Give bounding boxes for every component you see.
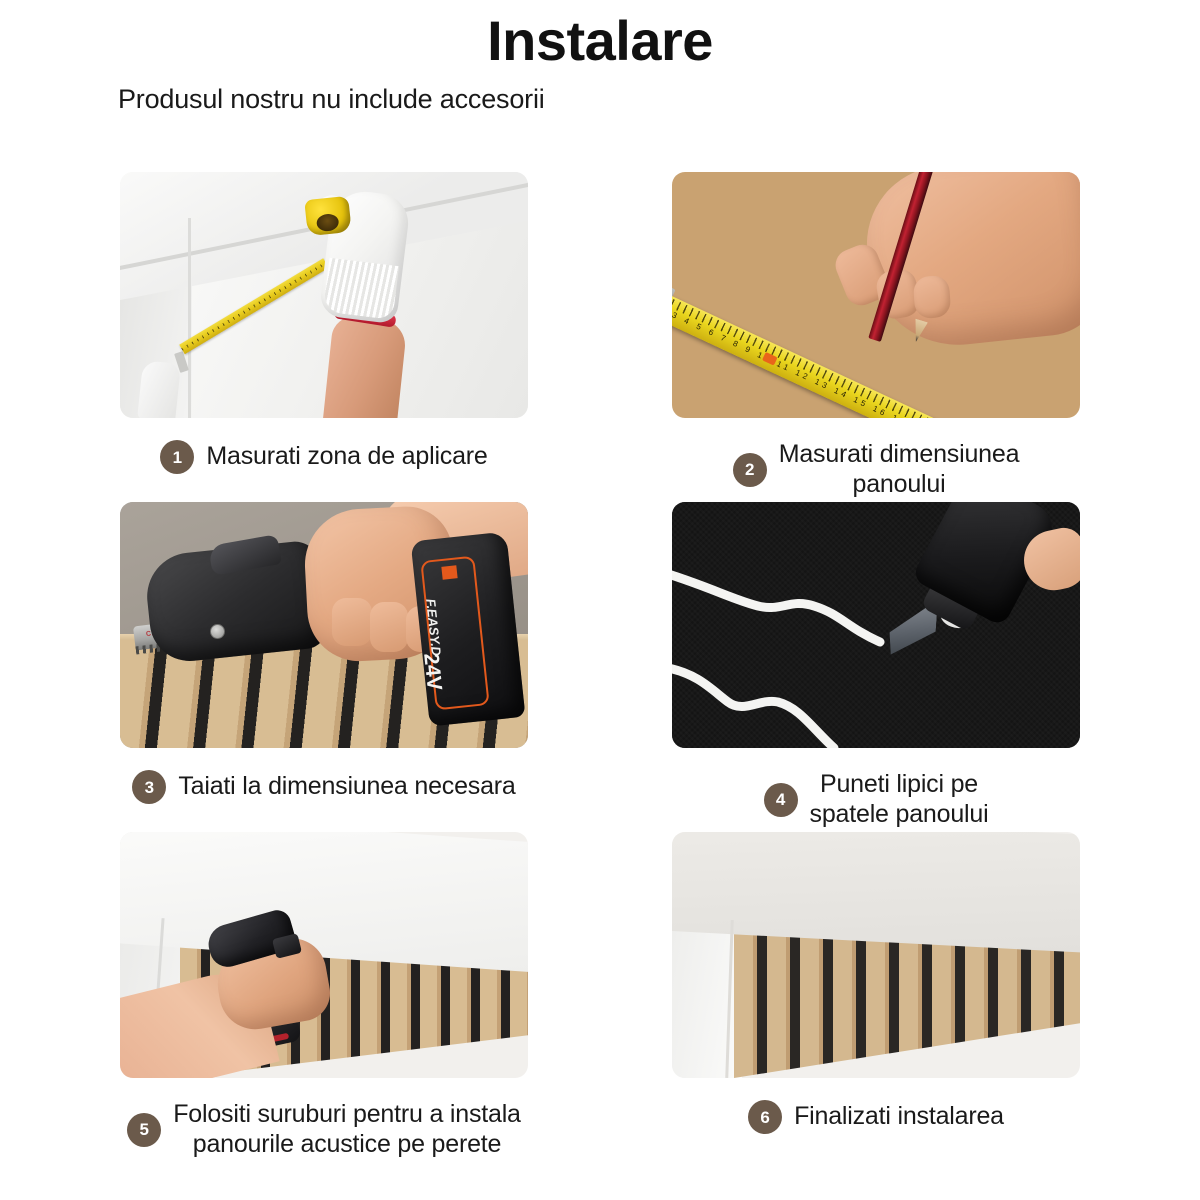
step-badge-2: 2 — [733, 453, 767, 487]
step-caption-text-3: Taiati la dimensiunea necesara — [178, 772, 515, 802]
installation-guide-page: Instalare Produsul nostru nu include acc… — [0, 0, 1200, 1200]
step-caption-text-4: Puneti lipici pe spatele panoului — [810, 770, 989, 829]
finger — [913, 275, 952, 319]
battery-indicator-square — [441, 565, 457, 579]
step-photo-5 — [120, 832, 528, 1078]
step-badge-5: 5 — [127, 1113, 161, 1147]
step-caption-6: 6 Finalizati instalarea — [672, 1078, 1080, 1134]
steps-row-2: CHAINSAW F.EASY.D 24V — [120, 502, 1080, 832]
step-card-1: 1 Masurati zona de aplicare — [120, 172, 528, 474]
step-caption-text-1: Masurati zona de aplicare — [206, 442, 487, 472]
step-caption-1: 1 Masurati zona de aplicare — [120, 418, 528, 474]
page-subtitle: Produsul nostru nu include accesorii — [118, 84, 545, 115]
battery-voltage-text: 24V — [418, 652, 446, 692]
white-cloth — [137, 360, 181, 418]
step-card-6: 6 Finalizati instalarea — [672, 832, 1080, 1134]
step-badge-4: 4 — [764, 783, 798, 817]
step-card-2: 2 3 4 5 6 7 8 9 10 11 12 13 14 15 16 17 … — [672, 172, 1080, 499]
step-photo-6 — [672, 832, 1080, 1078]
page-title: Instalare — [0, 8, 1200, 73]
step-caption-text-5: Folositi suruburi pentru a instala panou… — [173, 1100, 521, 1159]
step-card-4: 4 Puneti lipici pe spatele panoului — [672, 502, 1080, 829]
step-caption-4: 4 Puneti lipici pe spatele panoului — [672, 748, 1080, 829]
wall-corner-line — [188, 218, 191, 418]
knuckle — [332, 598, 372, 646]
caption-line-1: Finalizati instalarea — [794, 1102, 1004, 1130]
caption-line-1: Taiati la dimensiunea necesara — [178, 772, 515, 800]
step-caption-2: 2 Masurati dimensiunea panoului — [672, 418, 1080, 499]
caption-line-2: spatele panoului — [810, 800, 989, 830]
caption-line-2: panoului — [779, 470, 1020, 500]
caption-line-1: Puneti lipici pe — [820, 770, 978, 798]
step-caption-text-2: Masurati dimensiunea panoului — [779, 440, 1020, 499]
caption-line-1: Masurati dimensiunea — [779, 440, 1020, 468]
step-photo-2: 2 3 4 5 6 7 8 9 10 11 12 13 14 15 16 17 … — [672, 172, 1080, 418]
caption-line-1: Folositi suruburi pentru a instala — [173, 1100, 521, 1128]
step-badge-1: 1 — [160, 440, 194, 474]
forearm — [322, 314, 407, 418]
step-card-3: CHAINSAW F.EASY.D 24V — [120, 502, 528, 804]
caption-line-2: panourile acustice pe perete — [173, 1130, 521, 1160]
step-photo-4 — [672, 502, 1080, 748]
step-caption-text-6: Finalizati instalarea — [794, 1102, 1004, 1132]
step-caption-5: 5 Folositi suruburi pentru a instala pan… — [120, 1078, 528, 1159]
steps-grid: 1 Masurati zona de aplicare 2 3 4 5 6 7 … — [120, 172, 1080, 1162]
chainsaw-tension-screw — [210, 624, 225, 639]
knuckle — [370, 602, 408, 652]
step-badge-3: 3 — [132, 770, 166, 804]
step-card-5: 5 Folositi suruburi pentru a instala pan… — [120, 832, 528, 1159]
steps-row-1: 1 Masurati zona de aplicare 2 3 4 5 6 7 … — [120, 172, 1080, 502]
step-badge-6: 6 — [748, 1100, 782, 1134]
step-photo-3: CHAINSAW F.EASY.D 24V — [120, 502, 528, 748]
tape-measure-case-icon — [304, 196, 352, 236]
step-caption-3: 3 Taiati la dimensiunea necesara — [120, 748, 528, 804]
steps-row-3: 5 Folositi suruburi pentru a instala pan… — [120, 832, 1080, 1162]
step-photo-1 — [120, 172, 528, 418]
caption-line-1: Masurati zona de aplicare — [206, 442, 487, 470]
